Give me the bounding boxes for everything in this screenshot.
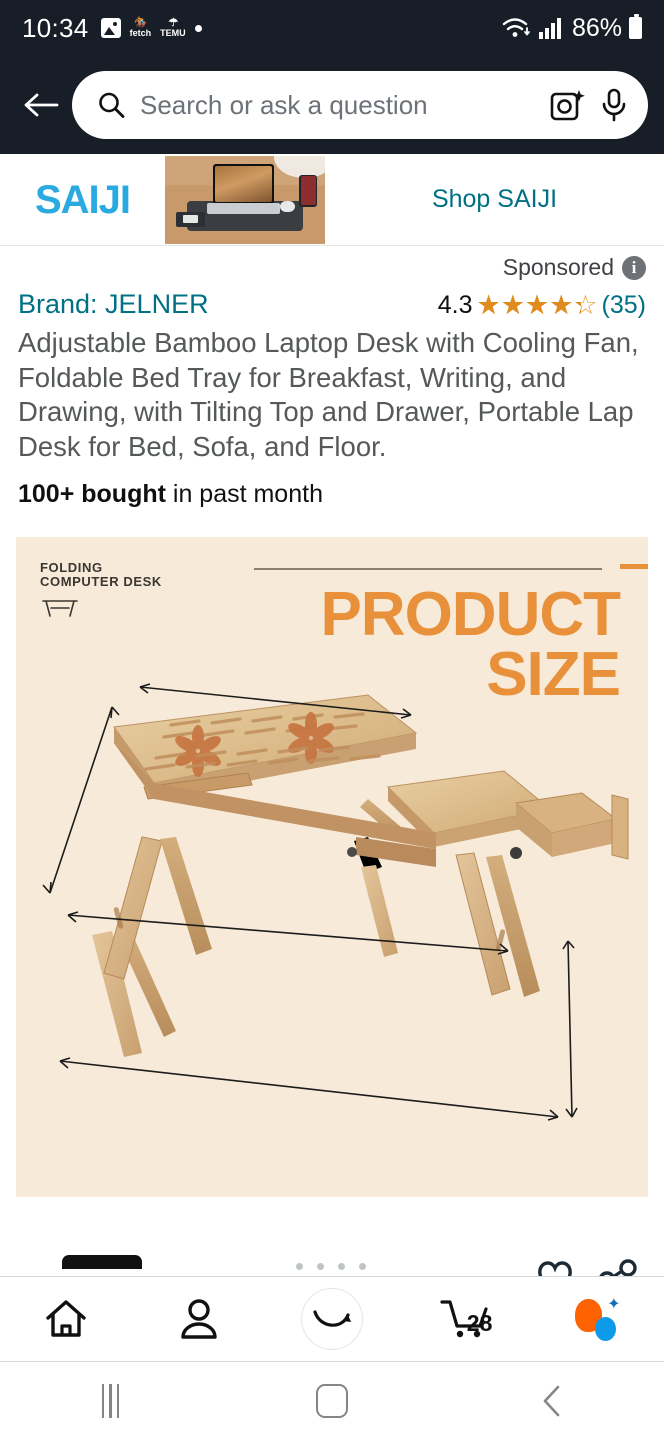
person-icon	[178, 1297, 220, 1341]
status-bar-notification-icons: 🏇fetch ☂TEMU	[101, 18, 202, 38]
back-button[interactable]	[10, 74, 72, 136]
android-system-nav	[0, 1362, 664, 1440]
carousel-progress-pill[interactable]	[62, 1255, 142, 1269]
phone-screen: 10:34 🏇fetch ☂TEMU 8	[0, 0, 664, 1440]
bamboo-desk-illustration	[16, 537, 648, 1197]
ad-brand-logo: SAIJI	[0, 180, 165, 220]
home-icon	[43, 1297, 89, 1341]
nav-account[interactable]	[133, 1297, 266, 1341]
ad-product-image[interactable]	[165, 156, 325, 244]
temu-icon: ☂TEMU	[160, 18, 186, 38]
home-square-icon	[316, 1384, 348, 1418]
carousel-dots[interactable]	[296, 1263, 366, 1270]
search-icon	[96, 90, 126, 120]
sponsored-label-row: Sponsored i	[0, 246, 664, 285]
saiji-logo-text: SAIJI	[35, 180, 130, 220]
back-arrow-icon	[21, 90, 61, 120]
nav-amazon-home[interactable]	[266, 1288, 399, 1350]
bought-count: 100+ bought	[18, 480, 166, 508]
recents-icon	[102, 1384, 120, 1418]
recent-purchases-label: 100+ bought in past month	[18, 480, 646, 509]
search-input[interactable]: Search or ask a question	[140, 90, 536, 121]
nav-home[interactable]	[0, 1297, 133, 1341]
product-info-block: Brand: JELNER 4.3 ☆☆☆☆☆ ★★★★★ (35) Adjus…	[0, 289, 664, 509]
nav-cart[interactable]: 28	[398, 1296, 531, 1342]
gallery-icon	[101, 18, 121, 38]
status-bar-system-icons: 86%	[501, 14, 642, 43]
fetch-icon: 🏇fetch	[130, 18, 152, 38]
rating-count[interactable]: (35)	[602, 291, 646, 320]
brand-link[interactable]: Brand: JELNER	[18, 289, 209, 320]
camera-lens-icon[interactable]	[550, 88, 586, 122]
info-icon[interactable]: i	[622, 256, 646, 280]
dot-icon	[195, 25, 202, 32]
search-header: Search or ask a question	[0, 56, 664, 154]
bought-period: in past month	[166, 480, 323, 508]
product-title: Adjustable Bamboo Laptop Desk with Cooli…	[18, 326, 646, 464]
product-image-main[interactable]: FOLDING COMPUTER DESK PRODUCT SIZE	[16, 537, 648, 1197]
status-bar: 10:34 🏇fetch ☂TEMU 8	[0, 0, 664, 56]
wifi-icon	[501, 15, 531, 41]
system-home-button[interactable]	[221, 1384, 442, 1418]
microphone-icon[interactable]	[600, 88, 628, 122]
status-bar-clock: 10:34	[22, 13, 89, 44]
nav-rufus-assistant[interactable]: ✦	[531, 1297, 664, 1341]
cart-item-count: 28	[467, 1310, 493, 1337]
brand-and-rating-row: Brand: JELNER 4.3 ☆☆☆☆☆ ★★★★★ (35)	[18, 289, 646, 320]
app-bottom-nav: 28 ✦	[0, 1276, 664, 1362]
star-rating: ☆☆☆☆☆ ★★★★★	[477, 292, 598, 319]
rufus-assistant-icon: ✦	[575, 1297, 621, 1341]
battery-icon	[629, 17, 642, 39]
amazon-smile-icon	[301, 1288, 363, 1350]
shop-brand-link[interactable]: Shop SAIJI	[325, 185, 664, 214]
system-back-button[interactable]	[443, 1383, 664, 1419]
search-bar[interactable]: Search or ask a question	[72, 71, 648, 139]
sponsored-ad-banner[interactable]: SAIJI Shop SAIJI	[0, 154, 664, 246]
battery-percent-label: 86%	[572, 14, 622, 43]
rating-block[interactable]: 4.3 ☆☆☆☆☆ ★★★★★ (35)	[438, 291, 646, 320]
system-recents-button[interactable]	[0, 1384, 221, 1418]
rating-value: 4.3	[438, 291, 473, 320]
sponsored-label: Sponsored	[503, 254, 614, 281]
cellular-signal-icon	[538, 16, 565, 40]
back-chevron-icon	[538, 1383, 568, 1419]
